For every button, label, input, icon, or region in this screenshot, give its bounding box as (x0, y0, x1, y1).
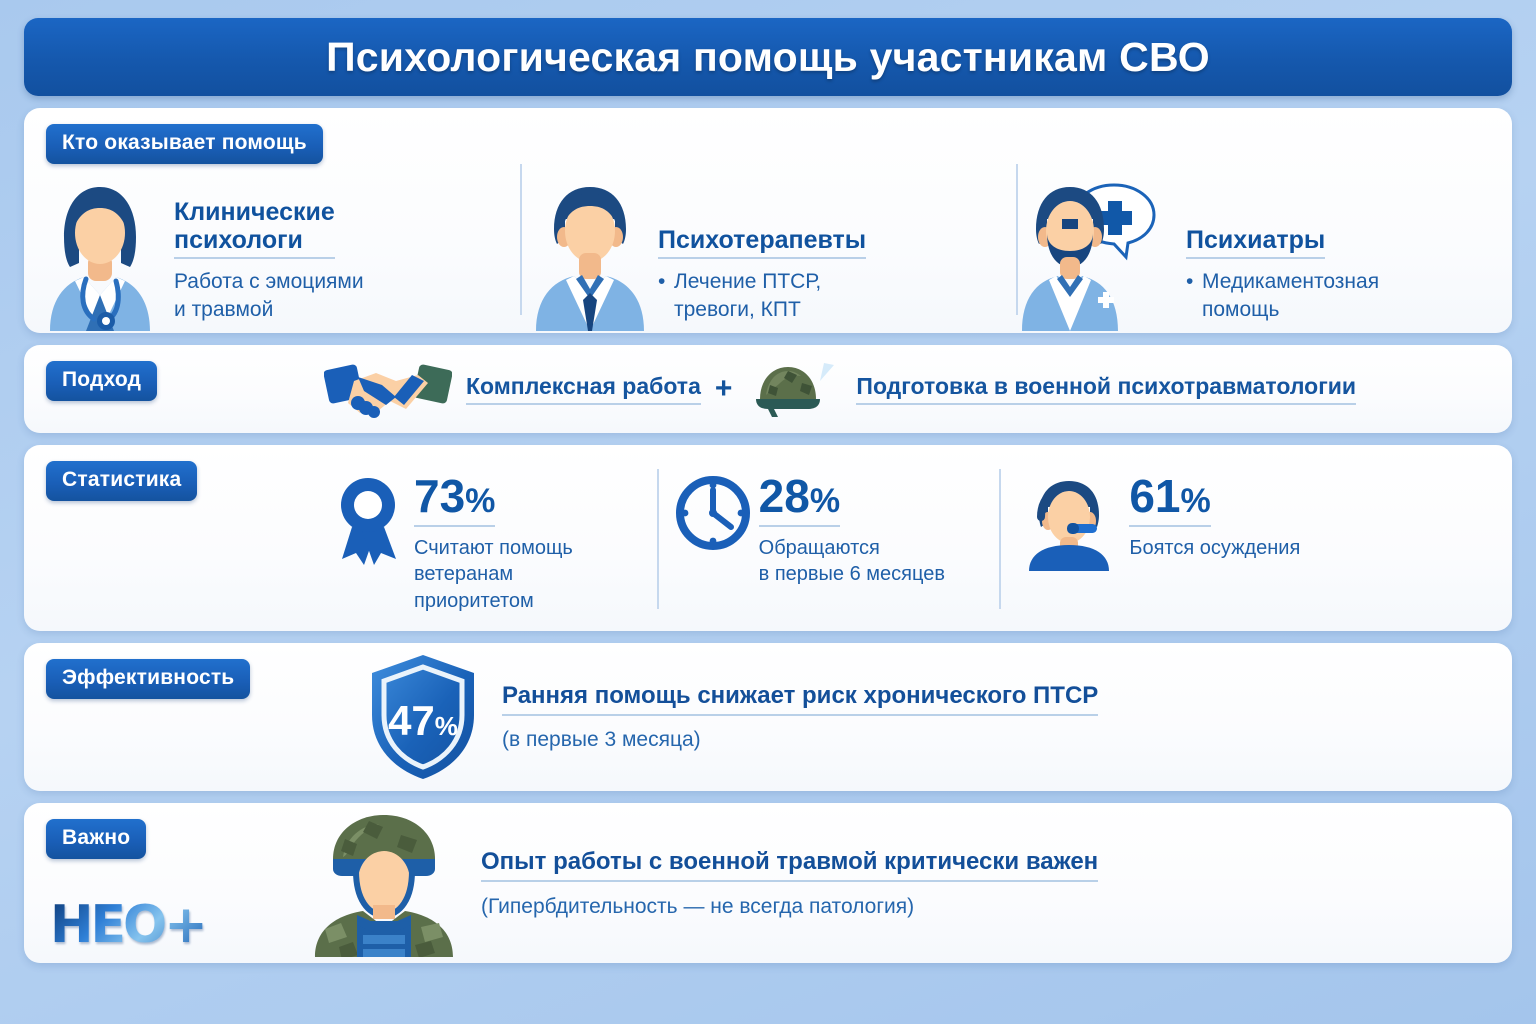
page-title: Психологическая помощь участникам СВО (326, 34, 1210, 81)
shield-icon: 47% (364, 653, 482, 781)
provider-name: Клинические психологи (174, 198, 335, 259)
provider-text-block: Клинические психологи Работа с эмоциями … (174, 198, 364, 331)
page-title-bar: Психологическая помощь участникам СВО (24, 18, 1512, 96)
stat-value: 28% (759, 473, 840, 527)
important-row: Опыт работы с военной травмой критически… (309, 803, 1482, 963)
section-badge-effectiveness: Эффективность (46, 659, 250, 699)
provider-text-block: Психотерапевты Лечение ПТСР, тревоги, КП… (658, 226, 866, 331)
stat-text-block: 73% Считают помощь ветеранам приоритетом (414, 473, 573, 614)
provider-name: Психиатры (1186, 226, 1325, 259)
provider-clinical-psychologists[interactable]: Клинические психологи Работа с эмоциями … (24, 148, 520, 333)
provider-description: Работа с эмоциями и травмой (174, 268, 364, 323)
stat-item-fear-judgement[interactable]: 61% Боятся осуждения (999, 459, 1342, 623)
effectiveness-main-text: Ранняя помощь снижает риск хронического … (502, 682, 1098, 716)
section-badge-important: Важно (46, 819, 146, 859)
provider-name: Психотерапевты (658, 226, 866, 259)
important-main-text: Опыт работы с военной травмой критически… (481, 848, 1098, 882)
stat-item-priority[interactable]: 73% Считают помощь ветеранам приоритетом (314, 459, 657, 623)
infographic-page: Психологическая помощь участникам СВО Кт… (0, 0, 1536, 1024)
stat-label: Считают помощь ветеранам приоритетом (414, 535, 573, 614)
stat-item-first-6-months[interactable]: 28% Обращаются в первые 6 месяцев (657, 459, 1000, 623)
important-text-block: Опыт работы с военной травмой критически… (481, 848, 1098, 919)
section-badge-statistics: Статистика (46, 461, 197, 501)
military-helmet-icon (746, 359, 842, 419)
stat-value: 73% (414, 473, 495, 527)
stat-label: Обращаются в первые 6 месяцев (759, 535, 945, 588)
section-effectiveness: Эффективность 47% Ранн (24, 643, 1512, 791)
neo-plus-logo: НЕО+ (50, 899, 205, 951)
stat-text-block: 61% Боятся осуждения (1129, 473, 1300, 561)
effectiveness-sub-text: (в первые 3 месяца) (502, 728, 1098, 752)
provider-description: Медикаментозная помощь (1186, 268, 1379, 323)
approach-separator: + (715, 374, 733, 404)
important-sub-text: (Гипербдительность — не всегда патология… (481, 895, 1098, 919)
stat-value: 61% (1129, 473, 1210, 527)
effectiveness-row: 47% Ранняя помощь снижает риск хроническ… (364, 643, 1482, 791)
statistics-row: 73% Считают помощь ветеранам приоритетом (314, 459, 1342, 623)
provider-description: Лечение ПТСР, тревоги, КПТ (658, 268, 866, 323)
provider-text-block: Психиатры Медикаментозная помощь (1186, 226, 1379, 331)
female-clinical-psychologist-icon (30, 171, 170, 331)
effectiveness-text-block: Ранняя помощь снижает риск хронического … (502, 682, 1098, 752)
section-badge-approach: Подход (46, 361, 157, 401)
bearded-psychiatrist-icon (1022, 171, 1182, 331)
provider-psychiatrists[interactable]: Психиатры Медикаментозная помощь (1016, 148, 1512, 333)
approach-item-label: Подготовка в военной психотравматологии (856, 373, 1356, 405)
provider-psychotherapists[interactable]: Психотерапевты Лечение ПТСР, тревоги, КП… (520, 148, 1016, 333)
handshake-icon (324, 359, 452, 419)
section-who-provides-help: Кто оказывает помощь (24, 108, 1512, 333)
approach-item-label: Комплексная работа (466, 373, 701, 405)
male-psychotherapist-icon (526, 171, 654, 331)
approach-row: Комплексная работа + Подготовка в военно… (324, 345, 1488, 433)
stat-text-block: 28% Обращаются в первые 6 месяцев (759, 473, 945, 588)
providers-row: Клинические психологи Работа с эмоциями … (24, 148, 1512, 333)
section-approach: Подход Комплексная работа + (24, 345, 1512, 433)
clock-icon (675, 475, 751, 553)
award-ribbon-icon (332, 475, 406, 571)
soldier-icon (309, 809, 459, 957)
person-headset-icon (1017, 475, 1121, 571)
stat-label: Боятся осуждения (1129, 535, 1300, 561)
section-important: Важно (24, 803, 1512, 963)
section-statistics: Статистика 73% Считают помощь ветеранам … (24, 445, 1512, 631)
